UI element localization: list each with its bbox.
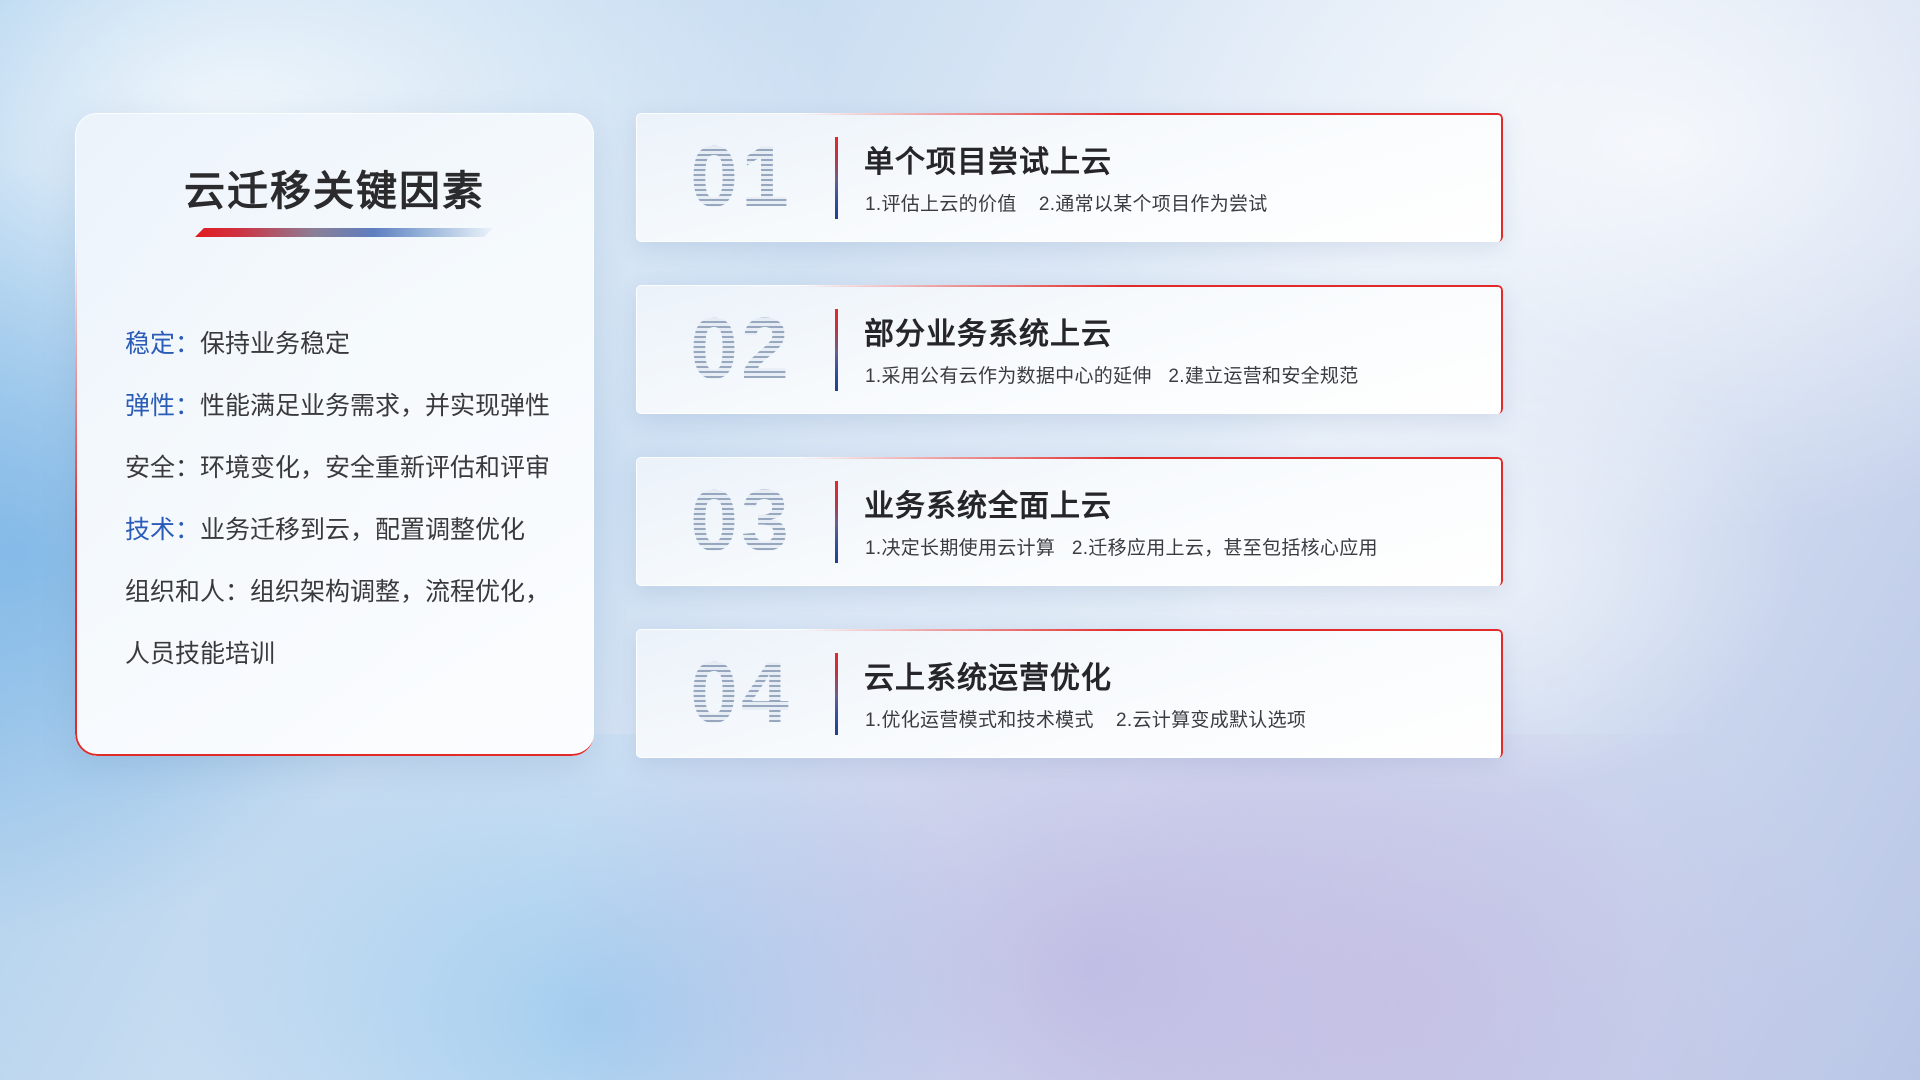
title-underline-gradient <box>195 228 493 237</box>
factor-continuation-text: 人员技能培训 <box>125 623 564 685</box>
factor-row: 安全：环境变化，安全重新评估和评审 <box>125 437 564 499</box>
step-number-watermark: 02 <box>666 301 816 397</box>
step-description: 1.采用公有云作为数据中心的延伸 2.建立运营和安全规范 <box>865 361 1359 388</box>
factor-text: 组织架构调整，流程优化， <box>250 578 550 606</box>
step-card-02[interactable]: 0202部分业务系统上云1.采用公有云作为数据中心的延伸 2.建立运营和安全规范 <box>636 285 1503 414</box>
step-number-watermark: 04 <box>666 645 816 741</box>
factor-label: 稳定： <box>125 330 200 358</box>
step-number-watermark: 01 <box>666 129 816 225</box>
step-title: 业务系统全面上云 <box>864 481 1112 525</box>
page-title: 云迁移关键因素 <box>75 157 594 217</box>
step-description: 1.评估上云的价值 2.通常以某个项目作为尝试 <box>865 189 1268 216</box>
step-number-watermark: 03 <box>666 473 816 569</box>
factor-row: 技术：业务迁移到云，配置调整优化 <box>125 499 564 561</box>
factor-row: 组织和人：组织架构调整，流程优化， <box>125 561 564 623</box>
step-card-01[interactable]: 0101单个项目尝试上云1.评估上云的价值 2.通常以某个项目作为尝试 <box>636 113 1503 242</box>
factor-text: 保持业务稳定 <box>200 330 350 358</box>
factor-label: 弹性： <box>125 392 200 420</box>
step-title: 云上系统运营优化 <box>864 653 1112 697</box>
factor-label: 组织和人： <box>125 578 250 606</box>
factor-text: 性能满足业务需求，并实现弹性 <box>200 392 550 420</box>
step-divider-bar <box>835 137 838 219</box>
step-description: 1.优化运营模式和技术模式 2.云计算变成默认选项 <box>865 705 1306 732</box>
step-description: 1.决定长期使用云计算 2.迁移应用上云，甚至包括核心应用 <box>865 533 1378 560</box>
key-factors-card: 云迁移关键因素 稳定：保持业务稳定弹性：性能满足业务需求，并实现弹性安全：环境变… <box>75 113 594 756</box>
step-card-03[interactable]: 0303业务系统全面上云1.决定长期使用云计算 2.迁移应用上云，甚至包括核心应… <box>636 457 1503 586</box>
factor-list: 稳定：保持业务稳定弹性：性能满足业务需求，并实现弹性安全：环境变化，安全重新评估… <box>125 313 564 685</box>
factor-row: 弹性：性能满足业务需求，并实现弹性 <box>125 375 564 437</box>
factor-label: 安全： <box>125 454 200 482</box>
factor-label: 技术： <box>125 516 200 544</box>
step-divider-bar <box>835 653 838 735</box>
step-divider-bar <box>835 309 838 391</box>
step-card-04[interactable]: 0404云上系统运营优化1.优化运营模式和技术模式 2.云计算变成默认选项 <box>636 629 1503 758</box>
factor-text: 环境变化，安全重新评估和评审 <box>200 454 550 482</box>
step-title: 部分业务系统上云 <box>864 309 1112 353</box>
factor-row: 稳定：保持业务稳定 <box>125 313 564 375</box>
step-divider-bar <box>835 481 838 563</box>
factor-text: 业务迁移到云，配置调整优化 <box>200 516 525 544</box>
step-title: 单个项目尝试上云 <box>864 137 1112 181</box>
